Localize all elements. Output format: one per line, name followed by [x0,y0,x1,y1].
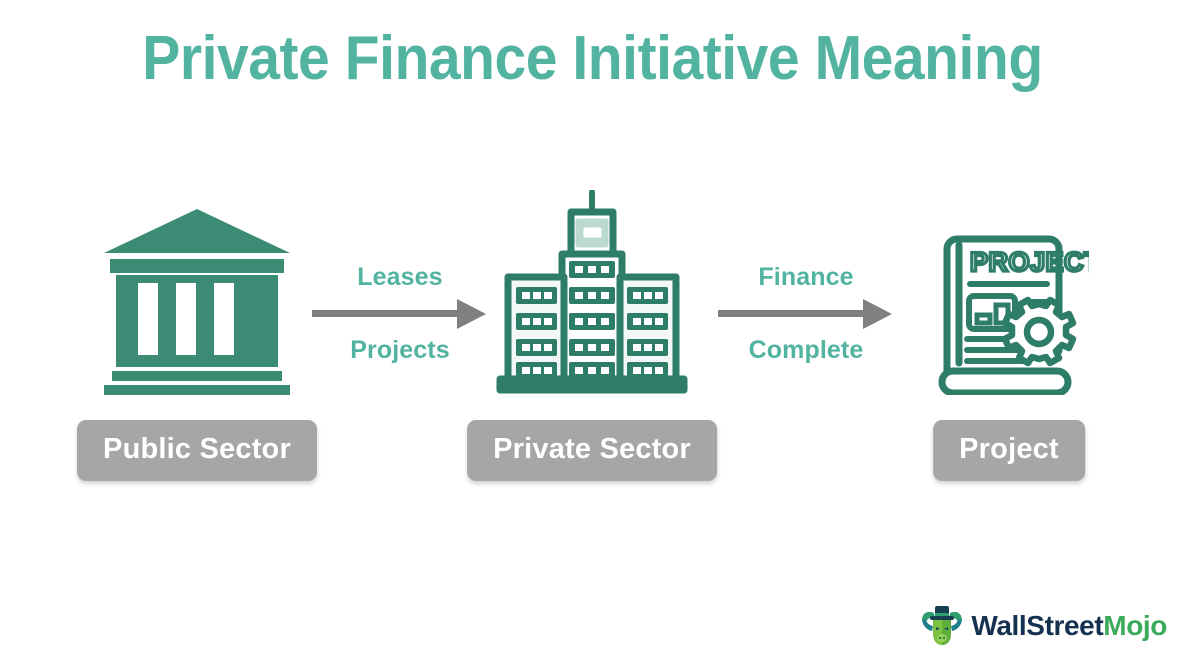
brand-name-secondary: Mojo [1103,610,1167,641]
brand-logo[interactable]: WallStreetMojo [919,602,1167,650]
brand-wordmark: WallStreetMojo [971,610,1167,642]
project-document-icon: PROJECT [929,223,1089,395]
stage-label-public-sector[interactable]: Public Sector [77,420,317,481]
stage-public-sector: Public Sector [77,180,317,490]
connector-finance-complete: Finance Complete [711,263,901,378]
bank-building-icon [104,199,290,395]
connector-2-label-bottom: Complete [711,336,901,365]
public-sector-icon-area [77,180,317,395]
brand-name-primary: WallStreet [971,610,1103,641]
connector-leases-projects: Leases Projects [305,263,495,378]
stage-label-private-sector[interactable]: Private Sector [467,420,717,481]
project-heading-text: PROJECT [970,247,1089,277]
right-arrow-icon [718,310,868,317]
private-sector-icon-area [472,180,712,395]
stage-private-sector: Private Sector [472,180,712,490]
project-icon-area: PROJECT [889,180,1129,395]
bull-with-tophat-icon [919,604,965,648]
connector-1-label-bottom: Projects [305,336,495,365]
connector-2-label-top: Finance [711,263,901,292]
stage-project: PROJECT [889,180,1129,490]
stage-label-project[interactable]: Project [933,420,1085,481]
office-building-icon [492,190,692,395]
connector-1-label-top: Leases [305,263,495,292]
right-arrow-head-icon [863,299,892,329]
page-title: Private Finance Initiative Meaning [47,26,1137,91]
right-arrow-icon [312,310,462,317]
